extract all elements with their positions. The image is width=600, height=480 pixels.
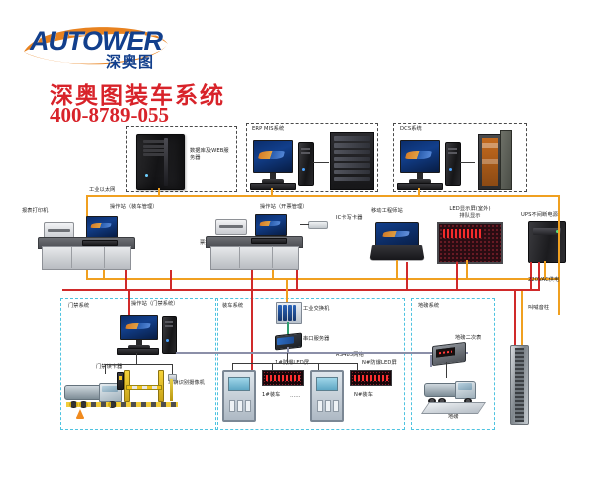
- ws-access-keyboard: [117, 348, 159, 355]
- hotline-number: 400-8789-055: [50, 103, 169, 128]
- engineer-laptop-device: [372, 222, 422, 260]
- loading-n-label: N#装车: [354, 392, 373, 399]
- ws-loading-keyboard: [82, 240, 118, 246]
- anpr-camera-post: [170, 379, 173, 401]
- drop-desk1: [103, 270, 105, 280]
- power-bus: [62, 289, 540, 291]
- drop-db: [158, 188, 160, 196]
- ups-label: UPS不间断电源: [521, 212, 558, 219]
- power-drop-laptop: [406, 262, 408, 291]
- indicator-drop: [430, 355, 432, 367]
- explosion-proof-led-n: [350, 370, 392, 386]
- ethernet-bus-right-riser: [558, 195, 560, 315]
- erp-link: [313, 162, 329, 163]
- loading-controller-1: [222, 370, 256, 422]
- erp-monitor: [253, 140, 293, 184]
- power-drop-desk2b: [296, 270, 298, 291]
- traffic-cone-icon: [76, 409, 84, 418]
- zone-loading-label: 装车系统: [222, 303, 243, 310]
- weighbridge-platform: [421, 402, 486, 414]
- ws-billing-keyboard: [251, 238, 287, 244]
- power-drop-desk1: [125, 270, 127, 291]
- ws-access-pc-tower: [162, 316, 177, 354]
- report-printer-label: 报表打印机: [22, 208, 48, 215]
- ic-card-writer-device: [308, 221, 328, 229]
- weighbridge-label: 地磅: [448, 414, 459, 421]
- ws-access-label: 操作站（门禁系统）: [131, 301, 179, 308]
- audio-column-device: [510, 345, 529, 425]
- zone-erp-label: ERP MIS系统: [252, 126, 284, 133]
- indicator-to-platform: [446, 362, 447, 378]
- dcs-link: [460, 162, 475, 163]
- erp-pc-tower: [298, 142, 314, 186]
- weigh-truck: [424, 378, 476, 404]
- led-outdoor-label: LED显示屏(室外) 排队显示: [449, 206, 490, 219]
- db-server-device: [136, 134, 185, 190]
- ws-access-monitor: [120, 315, 158, 349]
- zone-access-label: 门禁系统: [68, 303, 89, 310]
- ic-card-writer-label: IC卡写卡器: [336, 215, 363, 222]
- switch-uplink: [286, 280, 288, 302]
- dcs-pc-tower: [445, 142, 461, 186]
- erp-keyboard: [250, 183, 296, 190]
- loading-ellipsis: ……: [290, 393, 301, 400]
- loading-controller-n: [310, 370, 344, 422]
- ws-access-power: [128, 291, 130, 317]
- serial-server-device: [275, 333, 302, 351]
- drop-erp: [271, 188, 273, 196]
- ticket-printer-device: [215, 219, 247, 235]
- explosion-proof-led-1: [262, 370, 304, 386]
- engineer-laptop-label: 移动工程师站: [371, 208, 403, 215]
- dcs-keyboard: [397, 183, 443, 190]
- access-tree-left: [105, 364, 106, 374]
- zone-weigh-label: 地磅系统: [418, 303, 439, 310]
- ind-switch-label: 工业交换机: [303, 306, 329, 313]
- industrial-switch-device: [276, 302, 302, 324]
- loading-tree-bar: [232, 363, 357, 364]
- ethernet-bus-lower: [86, 278, 560, 280]
- rs485-bus: [176, 352, 468, 354]
- ups-device: [528, 221, 566, 263]
- drop-desk2: [272, 270, 274, 280]
- logo-chinese-name: 深奥图: [106, 51, 154, 72]
- audio-power-line: [514, 291, 516, 347]
- gate-hazard-stripe: [66, 402, 178, 407]
- led-outdoor-display: [437, 222, 503, 264]
- loading-tree-stem: [287, 353, 288, 363]
- audio-signal-line: [521, 291, 523, 347]
- dcs-monitor: [400, 140, 440, 184]
- switch-to-serial-link: [287, 322, 289, 334]
- access-tree-stem: [136, 353, 137, 364]
- ethernet-bus-label: 工业以太网: [89, 187, 115, 194]
- dcs-cabinet-door: [500, 130, 512, 190]
- door-reader-device: [117, 372, 124, 390]
- drop-laptop: [396, 260, 398, 280]
- loading-1-label: 1#装车: [262, 392, 280, 399]
- access-tree-bar: [105, 364, 173, 365]
- led-ex-n-label: N#防爆LED屏: [362, 360, 397, 367]
- dcs-cabinet: [478, 134, 502, 190]
- power-drop-desk2: [251, 270, 253, 291]
- ic-card-writer-link: [300, 224, 309, 225]
- power-drop-led: [456, 262, 458, 291]
- power-drop-desk1b: [170, 270, 172, 291]
- serial-server-label: 串口服务器: [303, 336, 329, 343]
- erp-equipment-rack: [330, 132, 374, 190]
- audio-column-label: 叫喊音柱: [528, 305, 549, 312]
- diagram-canvas: AUTOWER 深奥图 深奥图装车系统 400-8789-055 ERP MIS…: [0, 0, 600, 480]
- power-label: 220VAC供电: [528, 277, 559, 284]
- drop-led: [466, 260, 468, 280]
- weigh-indicator-device: [432, 342, 466, 366]
- ws-billing-label: 操作站（开票管理）: [260, 204, 308, 211]
- zone-dcs-label: DCS系统: [400, 126, 422, 133]
- drop-dcs: [418, 188, 420, 196]
- db-server-label: 数据库及WEB服务器: [190, 148, 232, 161]
- autower-logo: AUTOWER 深奥图: [18, 18, 178, 70]
- weigh-indicator-label: 地磅二次表: [455, 335, 481, 342]
- ws-loading-label: 操作站（装车管理）: [110, 204, 158, 211]
- barrier-arm: [126, 385, 162, 390]
